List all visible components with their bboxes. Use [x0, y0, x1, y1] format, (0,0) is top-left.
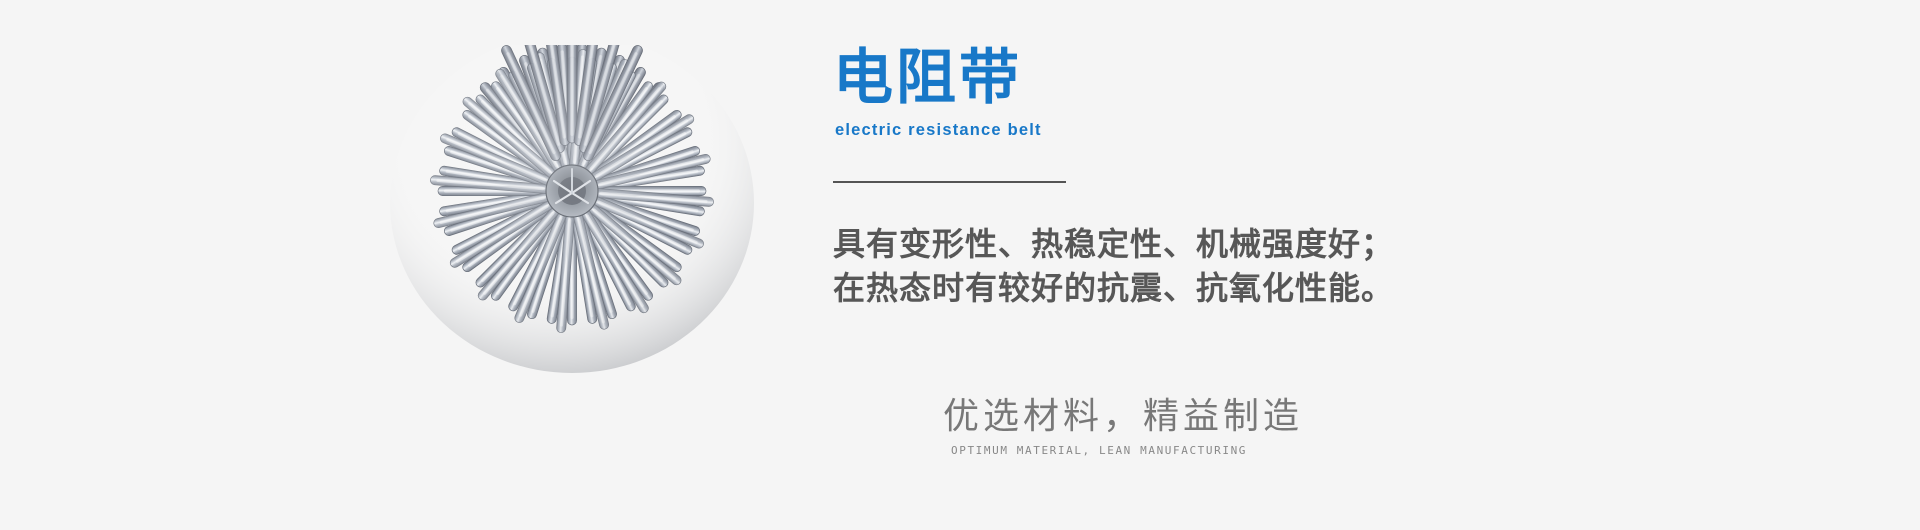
- description-block: 具有变形性、热稳定性、机械强度好； 在热态时有较好的抗震、抗氧化性能。: [833, 222, 1453, 310]
- page-subtitle-english: electric resistance belt: [835, 120, 1433, 140]
- title-divider: [833, 181, 1066, 183]
- slogan-english: OPTIMUM MATERIAL, LEAN MANUFACTURING: [951, 444, 1463, 458]
- slogan-block: 优选材料，精益制造 OPTIMUM MATERIAL, LEAN MANUFAC…: [943, 396, 1463, 458]
- description-line-1: 具有变形性、热稳定性、机械强度好；: [833, 222, 1453, 266]
- text-content: 电阻带 electric resistance belt 具有变形性、热稳定性、…: [833, 0, 1573, 530]
- title-block: 电阻带 electric resistance belt: [833, 46, 1433, 140]
- product-image: [368, 45, 758, 390]
- slogan-chinese: 优选材料，精益制造: [943, 396, 1463, 438]
- page-title: 电阻带: [833, 46, 1433, 110]
- description-line-2: 在热态时有较好的抗震、抗氧化性能。: [833, 266, 1453, 310]
- product-banner: 电阻带 electric resistance belt 具有变形性、热稳定性、…: [0, 0, 1920, 530]
